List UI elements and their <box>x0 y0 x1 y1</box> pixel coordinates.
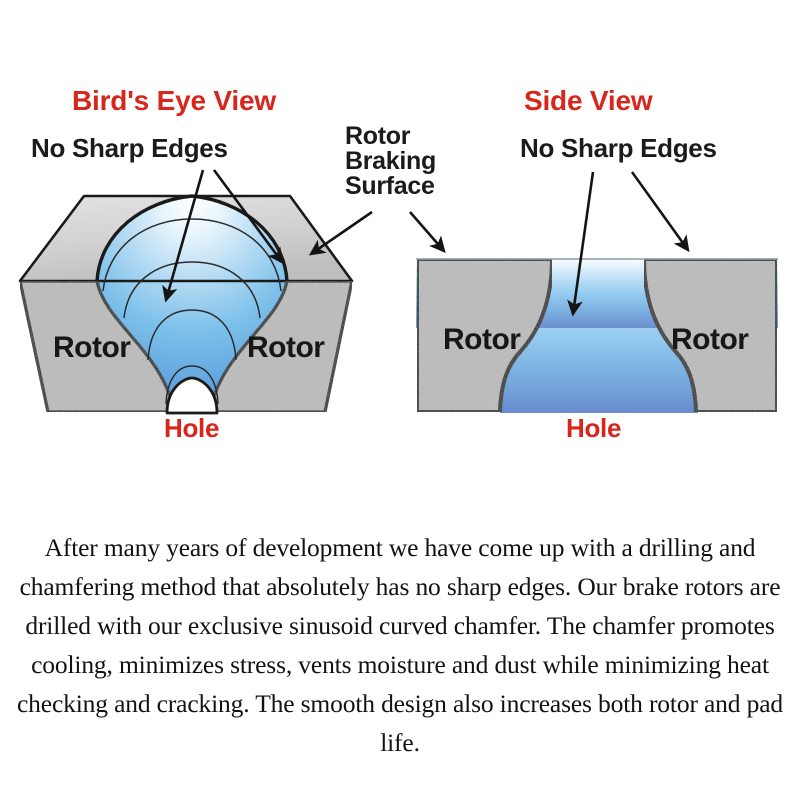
arrow-braking-right <box>410 212 444 251</box>
arrow-nse-right-chamf <box>632 172 688 250</box>
arrow-braking-left <box>311 212 372 254</box>
rotor-label-birds-eye-left: Rotor <box>53 331 130 365</box>
birds-eye-title: Bird's Eye View <box>72 86 276 115</box>
rotor-braking-surface-label: RotorBrakingSurface <box>345 124 436 199</box>
rotor-label-side-view-left: Rotor <box>443 323 520 357</box>
hole-label-birds-eye: Hole <box>164 415 219 442</box>
rotor-label-side-view-right: Rotor <box>671 323 748 357</box>
braking-surface-line-3: Surface <box>345 172 435 200</box>
rotor-label-birds-eye-right: Rotor <box>247 331 324 365</box>
diagram-page: Bird's Eye View Side View No Sharp Edges… <box>0 0 800 800</box>
side-view-title: Side View <box>524 86 652 115</box>
braking-surface-line-2: Braking <box>345 147 436 175</box>
hole-label-side-view: Hole <box>566 415 621 442</box>
diagram-area: Bird's Eye View Side View No Sharp Edges… <box>0 0 800 470</box>
description-paragraph: After many years of development we have … <box>8 528 792 762</box>
no-sharp-edges-label-right: No Sharp Edges <box>520 135 717 162</box>
rotor-chamfer-illustration <box>0 0 800 470</box>
no-sharp-edges-label-left: No Sharp Edges <box>31 135 228 162</box>
braking-surface-line-1: Rotor <box>345 122 410 150</box>
